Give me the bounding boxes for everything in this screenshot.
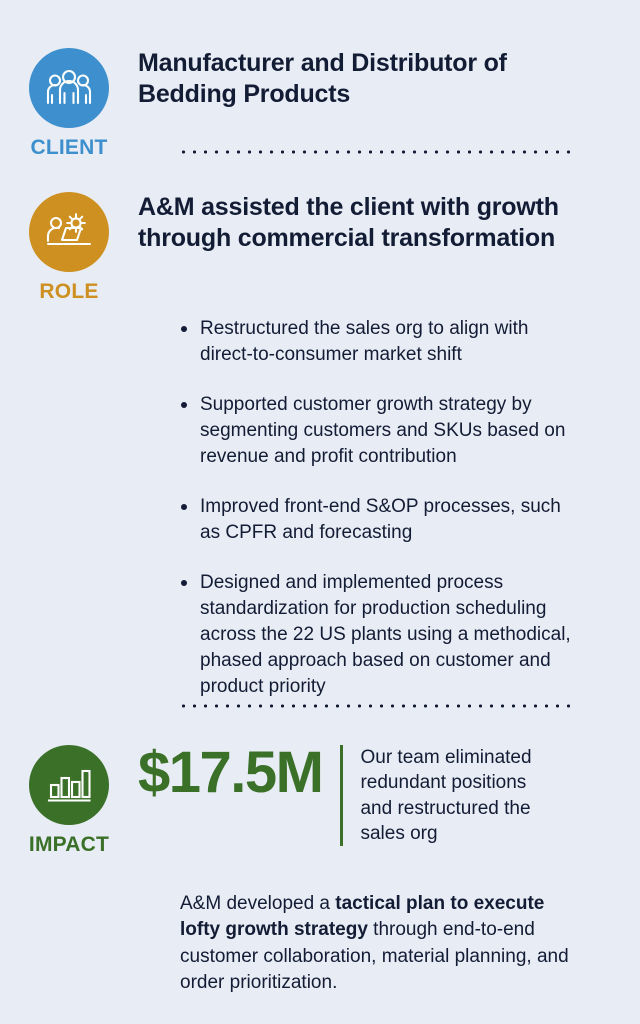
- list-item: Supported customer growth strategy by se…: [178, 392, 584, 470]
- client-section: CLIENT Manufacturer and Distributor of B…: [0, 48, 640, 158]
- role-content: A&M assisted the client with growth thro…: [138, 192, 640, 254]
- role-bullet-list: Restructured the sales org to align with…: [178, 316, 584, 700]
- client-heading: Manufacturer and Distributor of Bedding …: [138, 48, 596, 110]
- list-item: Improved front-end S&OP processes, such …: [178, 494, 584, 546]
- client-icon-circle: [29, 48, 109, 128]
- client-badge-label: CLIENT: [30, 137, 107, 158]
- impact-headline-row: $17.5M Our team eliminated redundant pos…: [138, 745, 596, 846]
- impact-badge: IMPACT: [0, 745, 138, 855]
- role-icon-circle: [29, 192, 109, 272]
- infographic-page: CLIENT Manufacturer and Distributor of B…: [0, 0, 640, 1024]
- role-section: ROLE A&M assisted the client with growth…: [0, 192, 640, 302]
- people-group-icon: [46, 68, 92, 108]
- role-badge: ROLE: [0, 192, 138, 302]
- list-item: Restructured the sales org to align with…: [178, 316, 584, 368]
- bar-chart-icon: [47, 765, 91, 805]
- client-divider: [178, 150, 570, 154]
- impact-content: $17.5M Our team eliminated redundant pos…: [138, 745, 640, 846]
- impact-summary: A&M developed a tactical plan to execute…: [180, 891, 578, 997]
- impact-figure: $17.5M: [138, 745, 340, 801]
- impact-icon-circle: [29, 745, 109, 825]
- impact-badge-label: IMPACT: [29, 834, 109, 855]
- person-laptop-gear-icon: [45, 211, 93, 253]
- list-item: Designed and implemented process standar…: [178, 570, 584, 700]
- impact-summary-lead: A&M developed a: [180, 893, 335, 914]
- role-heading: A&M assisted the client with growth thro…: [138, 192, 596, 254]
- impact-section: IMPACT $17.5M Our team eliminated redund…: [0, 745, 640, 855]
- role-badge-label: ROLE: [39, 281, 98, 302]
- impact-divider: [178, 704, 570, 708]
- impact-note: Our team eliminated redundant positions …: [343, 745, 560, 846]
- client-content: Manufacturer and Distributor of Bedding …: [138, 48, 640, 110]
- client-badge: CLIENT: [0, 48, 138, 158]
